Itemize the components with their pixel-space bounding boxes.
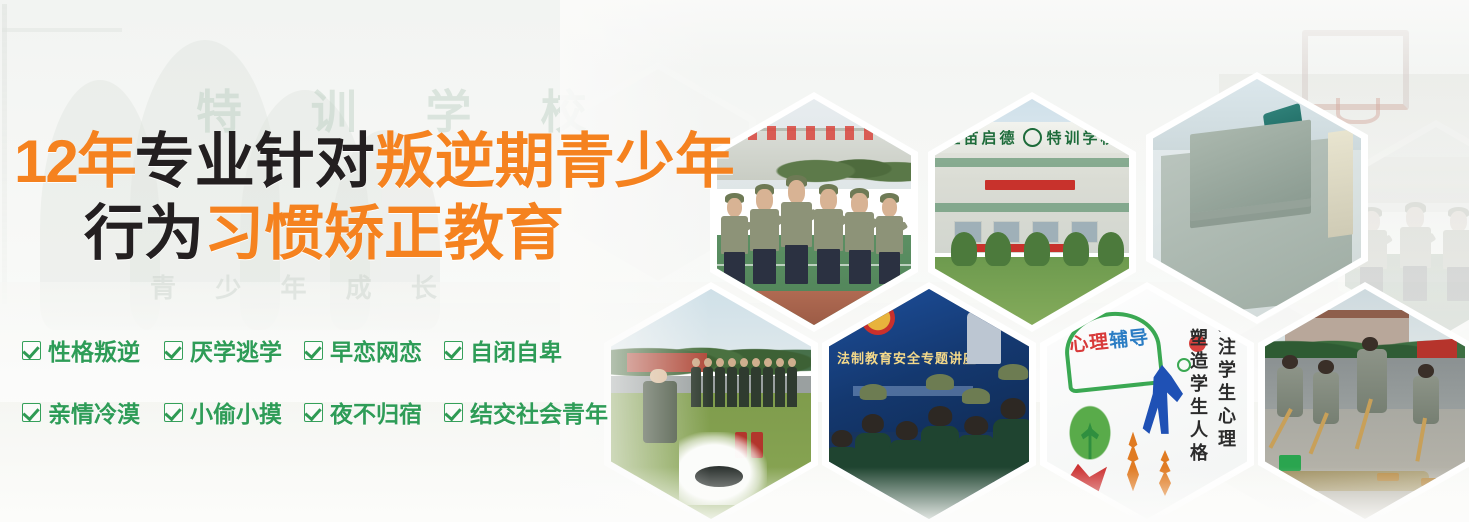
checklist-item[interactable]: 结交社会青年	[444, 395, 608, 429]
headline-line2-accent: 习惯矫正教育	[204, 200, 564, 267]
check-box-icon	[304, 341, 323, 360]
check-box-icon	[444, 341, 463, 360]
checklist-label: 亲情冷漠	[48, 395, 140, 429]
lecture-screen-title: 法制教育安全专题讲座	[837, 349, 985, 366]
poster-title-part-b: 辅导	[1108, 327, 1150, 352]
hexagon-school-facade[interactable]: 正苗启德 特训学校	[928, 92, 1136, 332]
checklist-item[interactable]: 早恋网恋	[304, 333, 422, 367]
headline-line-1: 12年专业针对叛逆期青少年	[0, 126, 690, 198]
checklist-label: 厌学逃学	[190, 333, 282, 367]
checklist-item[interactable]: 小偷小摸	[164, 395, 282, 429]
hexagon-folded-bedding[interactable]	[1146, 72, 1368, 324]
headline-line1-dark: 专业针对	[135, 128, 375, 195]
hexagon-legal-lecture[interactable]: 法制教育安全专题讲座	[822, 282, 1036, 522]
lecture-audience	[829, 399, 1029, 519]
fire-drill-actor	[643, 381, 677, 443]
check-box-icon	[164, 341, 183, 360]
school-emblem-icon	[1023, 128, 1042, 147]
checklist-item[interactable]: 性格叛逆	[22, 333, 140, 367]
calligraphy-column-2: 塑造学生人格	[1185, 328, 1211, 507]
check-box-icon	[164, 403, 183, 422]
headline-line1-accent: 叛逆期青少年	[375, 128, 735, 195]
checklist-item[interactable]: 自闭自卑	[444, 333, 562, 367]
checklist-item[interactable]: 厌学逃学	[164, 333, 282, 367]
checklist-item[interactable]: 夜不归宿	[304, 395, 422, 429]
check-box-icon	[304, 403, 323, 422]
headline-years: 12年	[14, 128, 135, 195]
check-box-icon	[22, 341, 41, 360]
checklist-row: 亲情冷漠 小偷小摸 夜不归宿 结交社会青年	[22, 388, 642, 436]
issue-checklist: 性格叛逆 厌学逃学 早恋网恋 自闭自卑 亲情冷漠 小偷小摸	[22, 326, 642, 436]
poster-title-part-a: 心理	[1068, 331, 1110, 356]
checklist-label: 结交社会青年	[470, 395, 608, 429]
headline: 12年专业针对叛逆期青少年 行为习惯矫正教育	[0, 126, 690, 270]
checklist-item[interactable]: 亲情冷漠	[22, 395, 140, 429]
check-box-icon	[22, 403, 41, 422]
checklist-label: 早恋网恋	[330, 333, 422, 367]
checklist-label: 小偷小摸	[190, 395, 282, 429]
headline-line-2: 行为习惯矫正教育	[0, 198, 690, 270]
check-box-icon	[444, 403, 463, 422]
headline-line2-dark: 行为	[84, 200, 204, 267]
checklist-label: 夜不归宿	[330, 395, 422, 429]
checklist-row: 性格叛逆 厌学逃学 早恋网恋 自闭自卑	[22, 326, 642, 374]
checklist-label: 性格叛逆	[48, 333, 140, 367]
banner-root: 特 训 学 校 青 少 年 成 长	[0, 0, 1469, 522]
wheat-icon-large	[1123, 432, 1143, 492]
checklist-label: 自闭自卑	[470, 333, 562, 367]
